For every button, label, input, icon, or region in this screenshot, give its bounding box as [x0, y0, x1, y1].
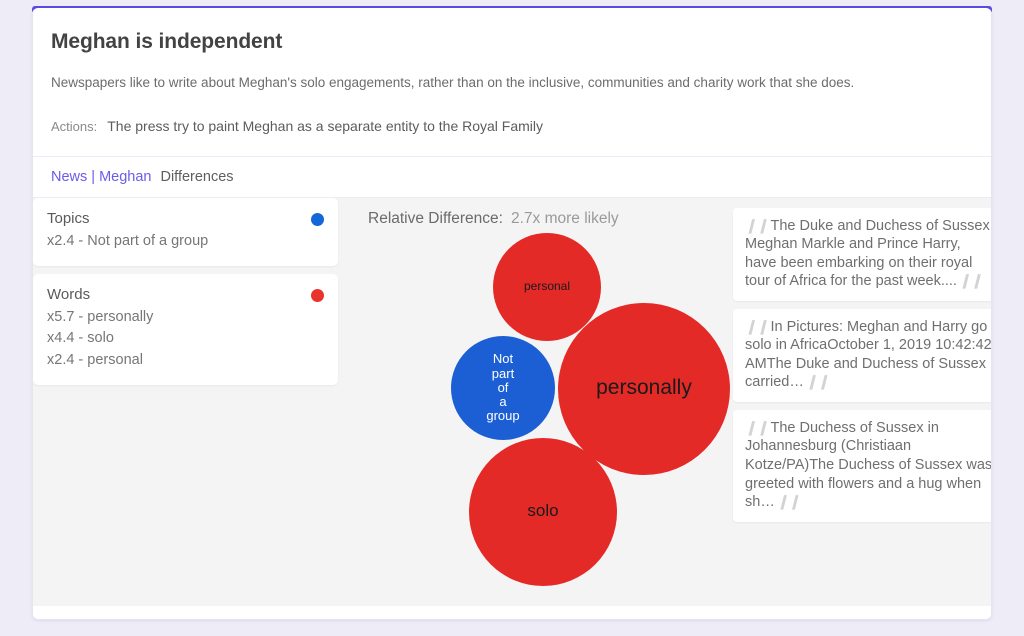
body-area: Topics x2.4 - Not part of a group Words … [33, 198, 991, 606]
bubble-label: personal [524, 280, 570, 293]
legend-item: x2.4 - Not part of a group [47, 231, 324, 252]
actions-value: The press try to paint Meghan as a separ… [107, 118, 543, 134]
bubble-personally[interactable]: personally [558, 303, 730, 475]
breadcrumb: News | Meghan Differences [33, 156, 991, 198]
chart-heading-value: 2.7x more likely [511, 210, 619, 228]
quote-open-icon: ❙❙ [745, 318, 768, 334]
quotes-column: ❙❙The Duke and Duchess of Sussex, Meghan… [733, 198, 992, 530]
bubble-chart: Relative Difference: 2.7x more likely No… [338, 198, 733, 606]
card-header: Meghan is independent Newspapers like to… [33, 8, 991, 134]
bubble-plot-area: Notpartofagrouppersonallysolopersonal [338, 228, 733, 598]
main-card: Meghan is independent Newspapers like to… [32, 8, 992, 620]
page-subtitle: Newspapers like to write about Meghan's … [51, 74, 973, 92]
quote-text: The Duke and Duchess of Sussex, Meghan M… [745, 218, 992, 290]
page-title: Meghan is independent [51, 30, 973, 54]
legend-title: Words [47, 286, 324, 303]
bubble-label: Notpartofagroup [486, 352, 519, 422]
legend-dot-topics [311, 213, 324, 226]
quote-close-icon: ❙❙ [777, 493, 800, 509]
bubble-solo[interactable]: solo [469, 438, 617, 586]
bubble-label: personally [596, 377, 692, 400]
quote-card[interactable]: ❙❙In Pictures: Meghan and Harry go solo … [733, 309, 992, 402]
breadcrumb-current-differences: Differences [160, 169, 233, 185]
quote-card[interactable]: ❙❙The Duke and Duchess of Sussex, Meghan… [733, 208, 992, 301]
quote-close-icon: ❙❙ [959, 272, 982, 288]
breadcrumb-link-news-meghan[interactable]: News | Meghan [51, 169, 151, 185]
chart-heading-label: Relative Difference: [368, 210, 503, 228]
quote-text: In Pictures: Meghan and Harry go solo in… [745, 319, 992, 391]
legend-card-words[interactable]: Words x5.7 - personally x4.4 - solo x2.4… [33, 274, 338, 385]
legend-column: Topics x2.4 - Not part of a group Words … [33, 198, 338, 394]
legend-dot-words [311, 289, 324, 302]
legend-item: x2.4 - personal [47, 350, 324, 371]
legend-title: Topics [47, 210, 324, 227]
legend-item: x5.7 - personally [47, 307, 324, 328]
actions-label: Actions: [51, 119, 97, 134]
quote-open-icon: ❙❙ [745, 419, 768, 435]
chart-heading: Relative Difference: 2.7x more likely [338, 198, 733, 228]
actions-row: Actions: The press try to paint Meghan a… [51, 118, 973, 134]
quote-close-icon: ❙❙ [806, 373, 829, 389]
legend-item: x4.4 - solo [47, 328, 324, 349]
bubble-personal[interactable]: personal [493, 233, 601, 341]
legend-card-topics[interactable]: Topics x2.4 - Not part of a group [33, 198, 338, 266]
bubble-label: solo [527, 502, 558, 520]
quote-open-icon: ❙❙ [745, 217, 768, 233]
bubble-not-part-of-a-group[interactable]: Notpartofagroup [451, 336, 555, 440]
quote-card[interactable]: ❙❙The Duchess of Sussex in Johannesburg … [733, 410, 992, 522]
